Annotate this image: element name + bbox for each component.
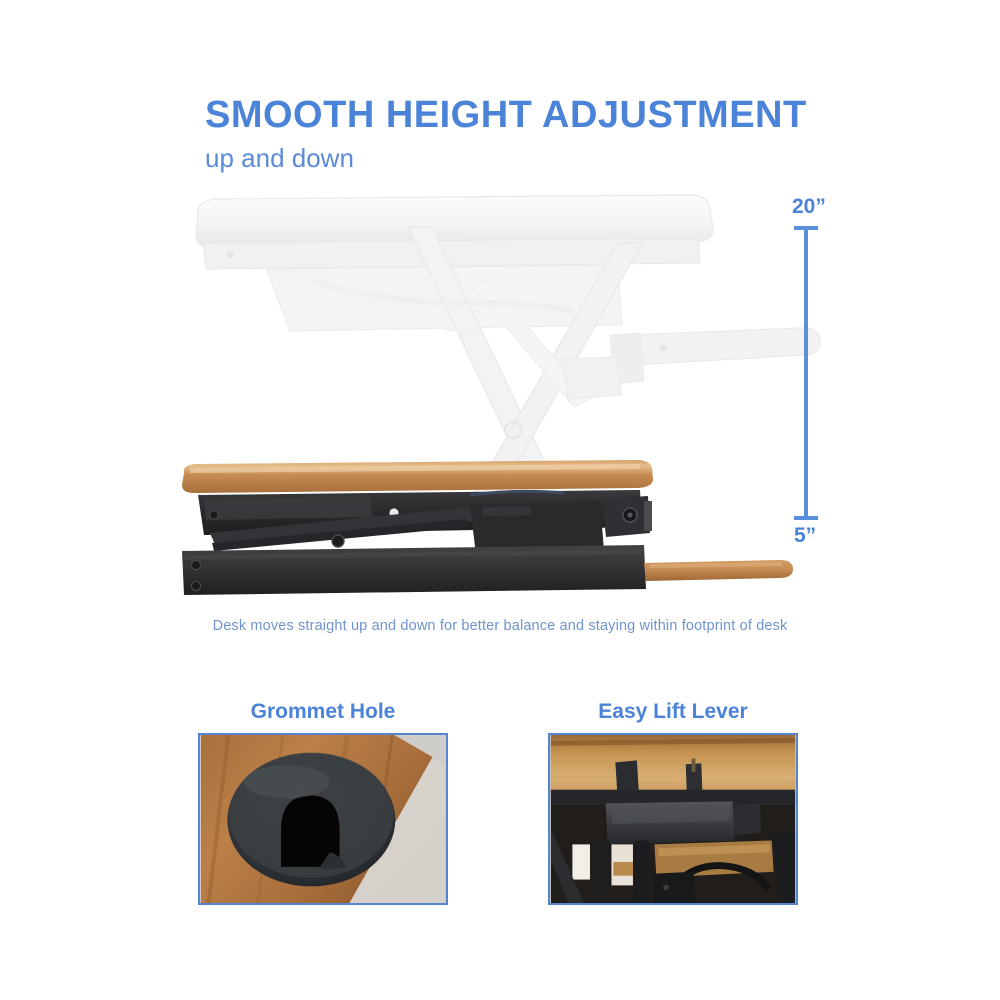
feature-grommet-hole: Grommet Hole <box>198 700 448 905</box>
dimension-max-label: 20” <box>792 195 826 219</box>
dimension-line <box>804 228 808 518</box>
dimension-bottom-cap <box>794 516 818 520</box>
ghost-hinge-block <box>562 357 622 399</box>
ghost-rail-bolt <box>227 252 234 259</box>
illustration-caption: Desk moves straight up and down for bett… <box>0 618 1000 634</box>
scissor-arm-bolt <box>332 535 344 547</box>
feature-title-lever: Easy Lift Lever <box>548 700 798 724</box>
infographic-canvas: SMOOTH HEIGHT ADJUSTMENT up and down <box>0 0 1000 1000</box>
page-subtitle: up and down <box>205 144 905 173</box>
housing-panel <box>204 497 372 520</box>
center-block-detail <box>482 506 531 516</box>
lever-end-cap <box>733 803 761 835</box>
grommet-highlight <box>244 765 330 798</box>
headline-block: SMOOTH HEIGHT ADJUSTMENT up and down <box>205 96 905 172</box>
bottom-bracket <box>652 872 695 903</box>
lever-leg <box>635 840 649 903</box>
easy-lift-lever-photo <box>548 733 798 905</box>
background-wood-gap <box>613 862 633 876</box>
feature-easy-lift-lever: Easy Lift Lever <box>548 700 798 905</box>
bracket-bolt <box>663 884 669 890</box>
easy-lift-lever-image <box>550 735 796 903</box>
ghost-tray-bolt <box>660 345 666 351</box>
adjust-knob-center <box>627 512 632 517</box>
housing-bolt <box>210 511 218 519</box>
lever-rod <box>692 758 696 772</box>
base-bolt <box>191 560 200 569</box>
lever-mount-post <box>615 760 638 793</box>
lever-leg <box>594 840 610 903</box>
lever-highlight <box>611 807 729 824</box>
ridged-grip <box>644 501 652 531</box>
feature-title-grommet: Grommet Hole <box>198 700 448 724</box>
page-title: SMOOTH HEIGHT ADJUSTMENT <box>205 96 905 136</box>
grommet-hole-image <box>200 735 446 903</box>
grommet-hole-photo <box>198 733 448 905</box>
desk-illustration <box>170 185 830 605</box>
base-bolt <box>191 581 200 590</box>
height-dimension-indicator: 20” 5” <box>780 195 860 535</box>
lowered-desk-illustration <box>170 455 830 605</box>
background-gap <box>572 844 590 879</box>
dimension-min-label: 5” <box>794 524 816 548</box>
